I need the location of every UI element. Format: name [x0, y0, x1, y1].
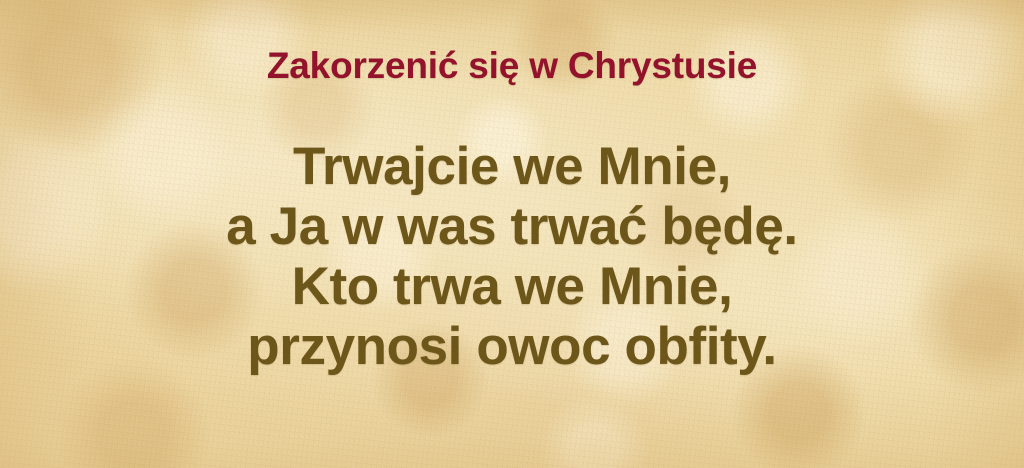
- poster-heading: Zakorzenić się w Chrystusie: [0, 47, 1024, 84]
- verse-text: Trwajcie we Mnie, a Ja w was trwać będę.…: [0, 137, 1024, 377]
- verse-line-2: a Ja w was trwać będę.: [0, 197, 1024, 257]
- verse-line-1: Trwajcie we Mnie,: [0, 137, 1024, 197]
- verse-line-4: przynosi owoc obfity.: [0, 317, 1024, 377]
- quote-poster: Zakorzenić się w Chrystusie Trwajcie we …: [0, 0, 1024, 468]
- poster-content: Zakorzenić się w Chrystusie Trwajcie we …: [0, 0, 1024, 468]
- verse-line-3: Kto trwa we Mnie,: [0, 257, 1024, 317]
